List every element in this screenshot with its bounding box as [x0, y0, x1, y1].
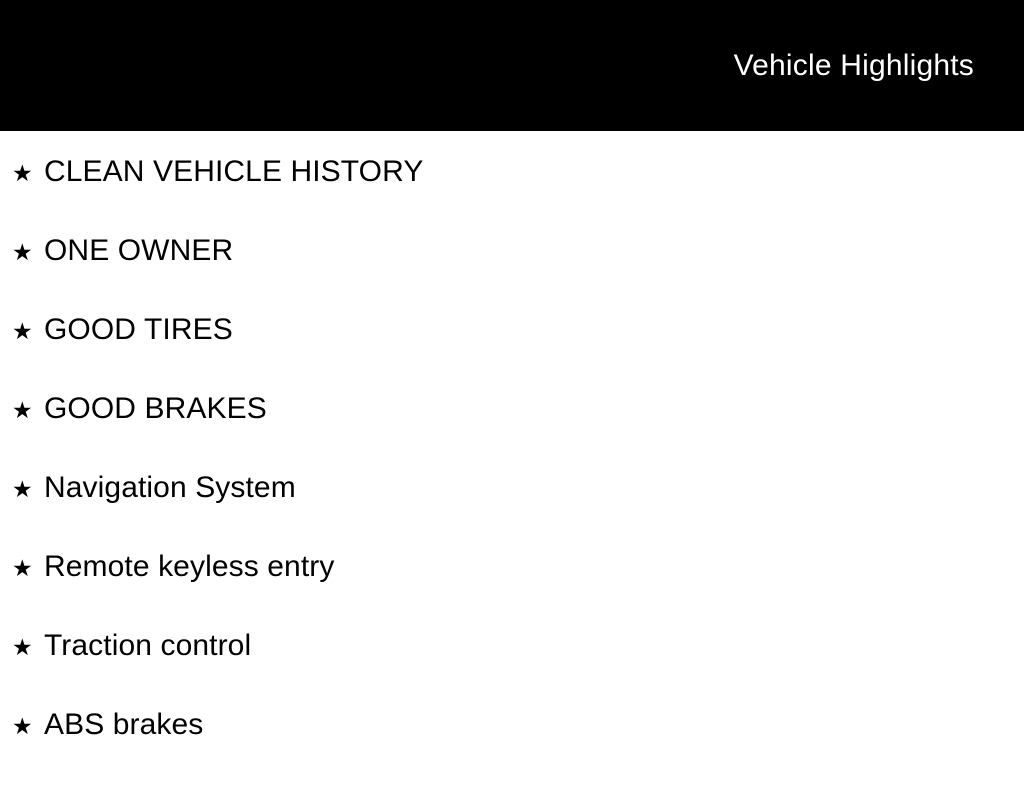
highlight-label: GOOD TIRES: [44, 315, 233, 345]
list-item: ★ Navigation System: [0, 473, 1024, 552]
star-icon: ★: [12, 163, 44, 186]
star-icon: ★: [12, 637, 44, 660]
highlight-label: GOOD BRAKES: [44, 394, 267, 424]
list-item: ★ Remote keyless entry: [0, 552, 1024, 631]
highlight-label: ABS brakes: [44, 710, 203, 740]
star-icon: ★: [12, 558, 44, 581]
highlight-label: Remote keyless entry: [44, 552, 334, 582]
highlight-label: Navigation System: [44, 473, 296, 503]
list-item: ★ GOOD TIRES: [0, 315, 1024, 394]
page-title: Vehicle Highlights: [734, 51, 974, 81]
vehicle-highlights-list: ★ CLEAN VEHICLE HISTORY ★ ONE OWNER ★ GO…: [0, 131, 1024, 789]
star-icon: ★: [12, 400, 44, 423]
star-icon: ★: [12, 321, 44, 344]
list-item: ★ ABS brakes: [0, 710, 1024, 789]
star-icon: ★: [12, 242, 44, 265]
list-item: ★ GOOD BRAKES: [0, 394, 1024, 473]
header-bar: Vehicle Highlights: [0, 0, 1024, 131]
star-icon: ★: [12, 716, 44, 739]
star-icon: ★: [12, 479, 44, 502]
list-item: ★ ONE OWNER: [0, 236, 1024, 315]
list-item: ★ CLEAN VEHICLE HISTORY: [0, 131, 1024, 236]
vehicle-highlights-page: Vehicle Highlights ★ CLEAN VEHICLE HISTO…: [0, 0, 1024, 768]
highlight-label: Traction control: [44, 631, 251, 661]
highlight-label: ONE OWNER: [44, 236, 233, 266]
list-item: ★ Traction control: [0, 631, 1024, 710]
highlight-label: CLEAN VEHICLE HISTORY: [44, 157, 423, 187]
